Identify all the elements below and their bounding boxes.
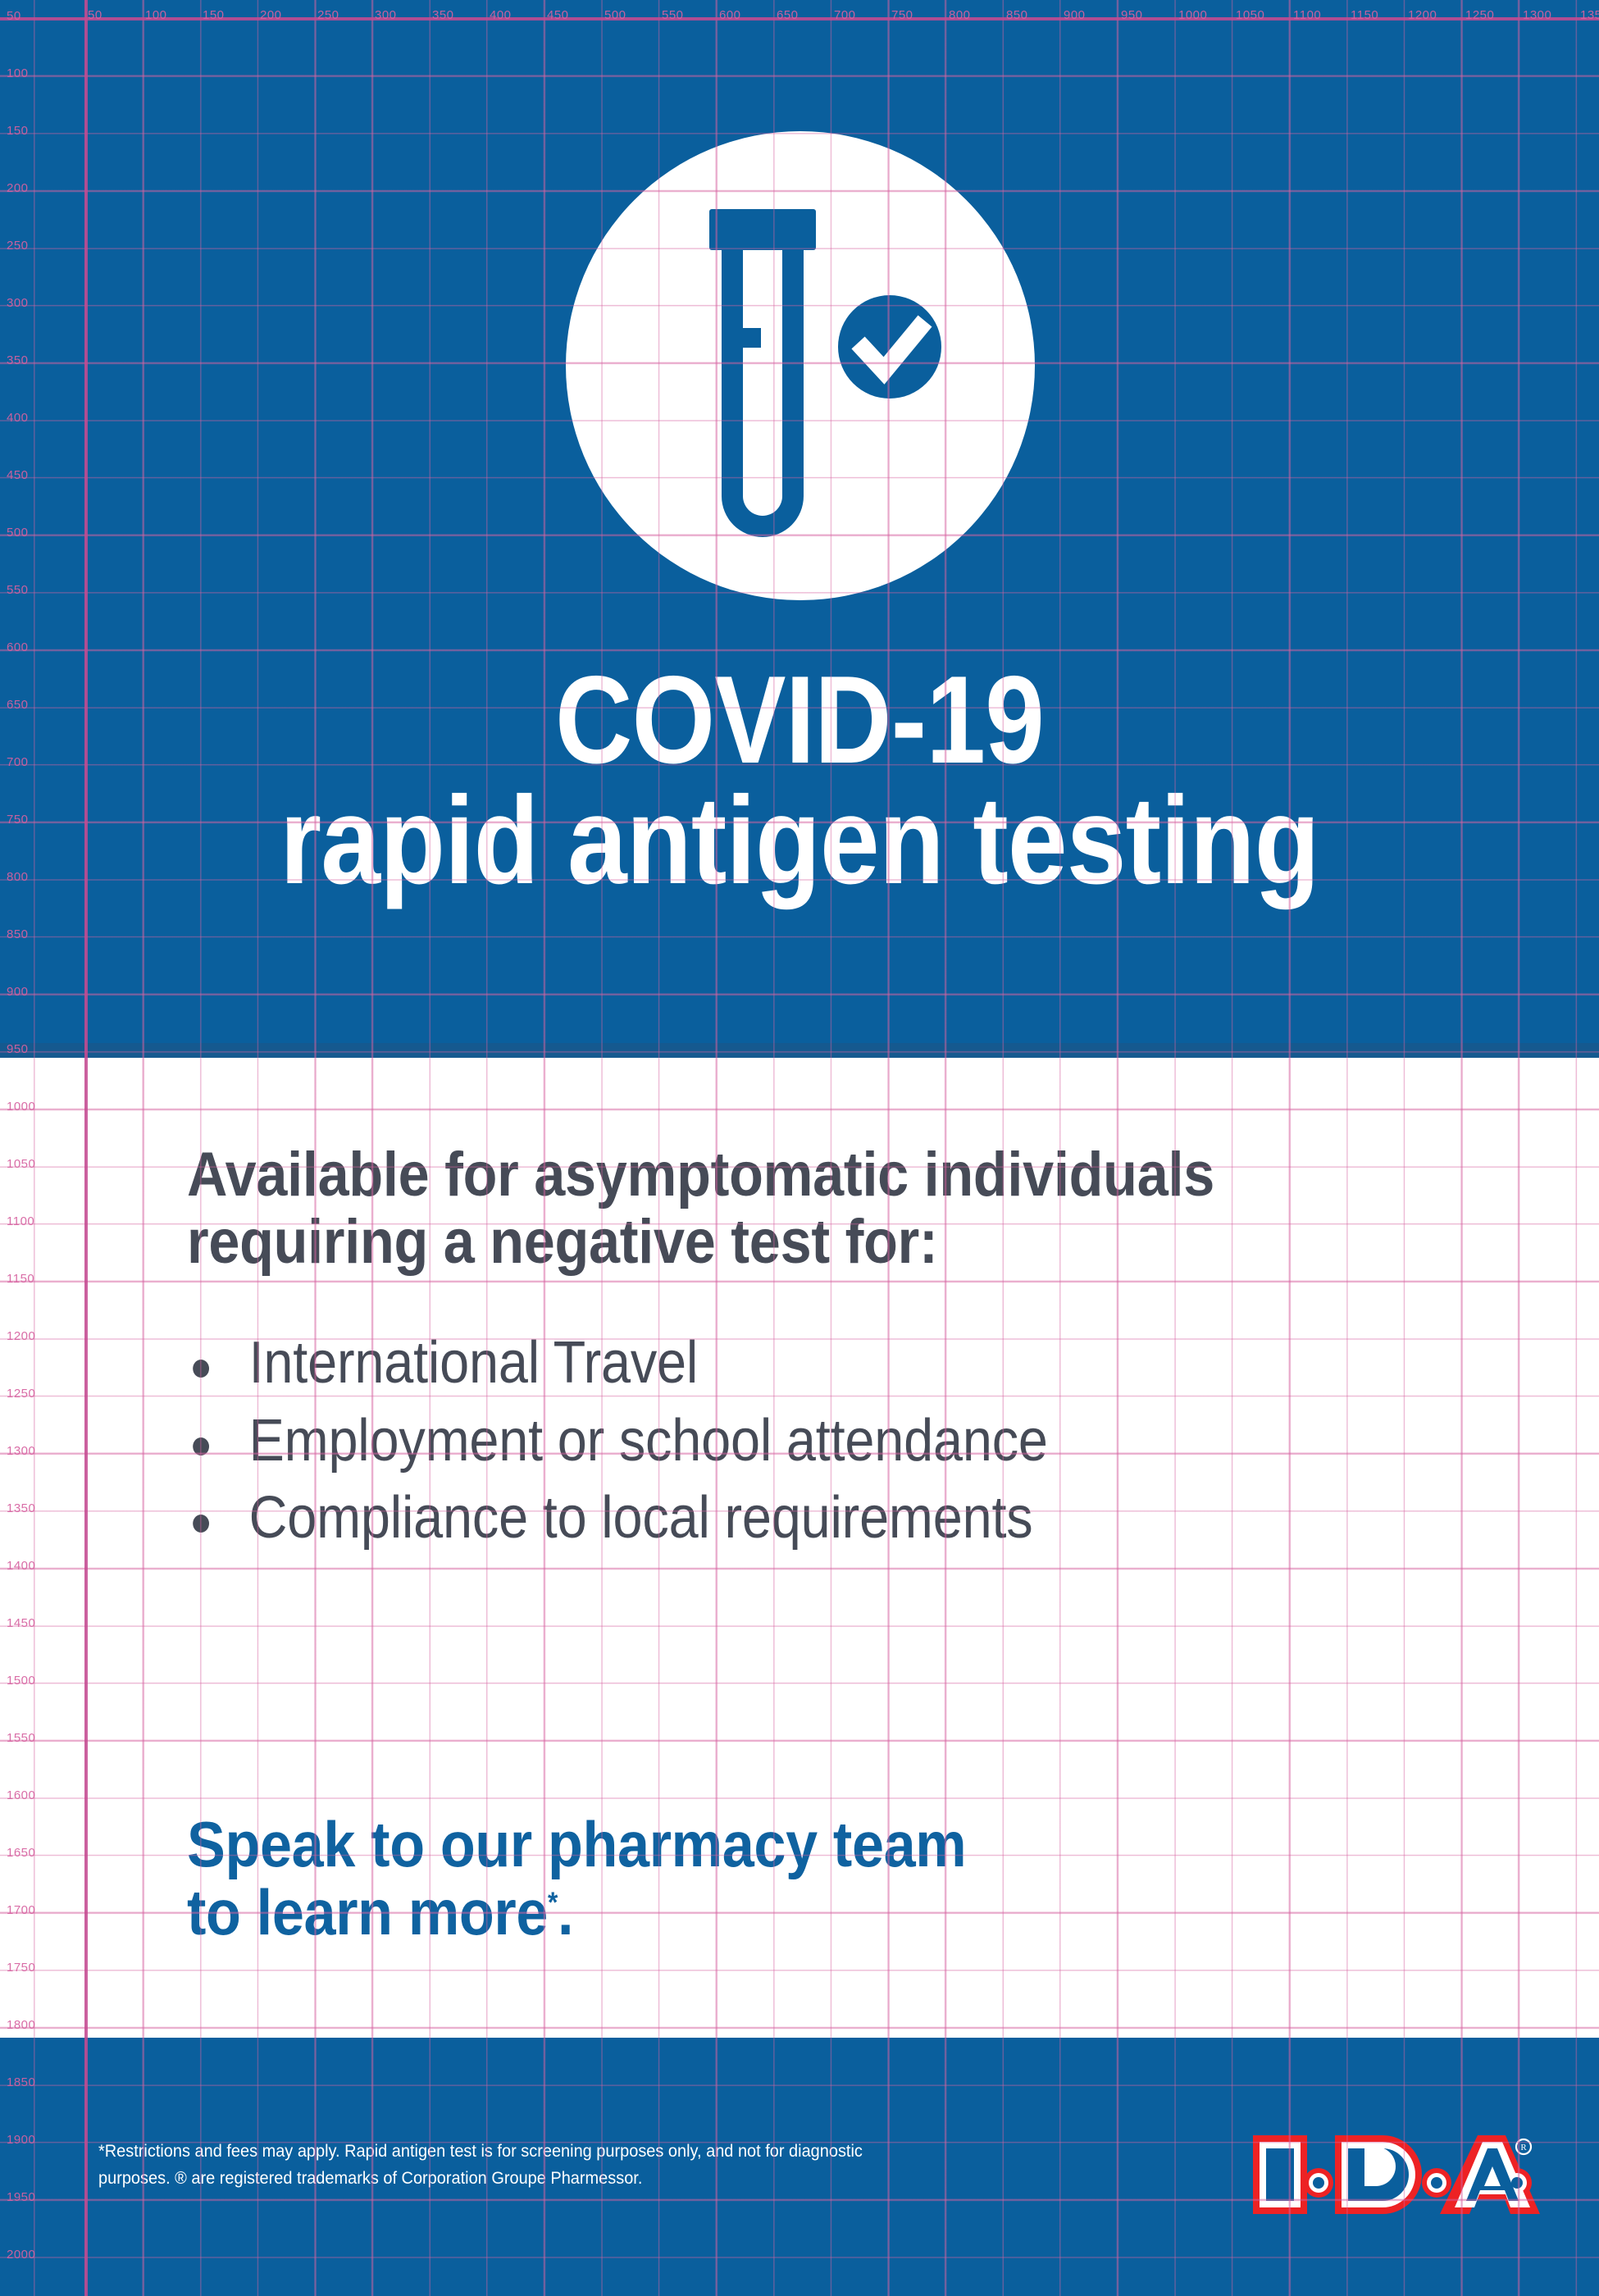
grid-ruler-label-x: 1000 xyxy=(1178,8,1207,22)
grid-ruler-label-y: 1500 xyxy=(7,1674,35,1688)
disclaimer-line-2: purposes. ® are registered trademarks of… xyxy=(98,2166,886,2193)
grid-ruler-label-x: 350 xyxy=(432,8,454,22)
grid-ruler-label-x: 450 xyxy=(547,8,569,22)
headline-line-1: COVID-19 xyxy=(555,650,1044,790)
cta-line-2: to learn more*. xyxy=(187,1879,966,1947)
grid-ruler-label-x: 600 xyxy=(719,8,741,22)
header-bottom-edge-strip xyxy=(0,1043,1599,1058)
subheading-line-1: Available for asymptomatic individuals xyxy=(187,1141,1338,1209)
grid-ruler-label-y: 200 xyxy=(7,181,29,195)
grid-ruler-label-x: 750 xyxy=(891,8,913,22)
grid-ruler-label-x: 1100 xyxy=(1293,8,1321,22)
grid-ruler-label-y: 1800 xyxy=(7,2018,35,2032)
grid-ruler-label-x: 150 xyxy=(203,8,225,22)
grid-ruler-label-y: 150 xyxy=(7,124,29,138)
grid-ruler-label-x: 900 xyxy=(1064,8,1086,22)
grid-ruler-label-x: 700 xyxy=(834,8,856,22)
cta-asterisk: * xyxy=(548,1887,558,1919)
bullet-dot-icon xyxy=(193,1515,209,1533)
list-item: Compliance to local requirements xyxy=(187,1485,1338,1551)
list-item-label: International Travel xyxy=(249,1330,699,1396)
eligibility-list: International Travel Employment or schoo… xyxy=(187,1330,1466,1551)
grid-ruler-label-y: 600 xyxy=(7,640,29,654)
grid-ruler-label-y: 1250 xyxy=(7,1387,35,1401)
grid-ruler-label-x: 250 xyxy=(317,8,339,22)
grid-ruler-label-y: 50 xyxy=(7,9,21,23)
poster-canvas: COVID-19 rapid antigen testing Available… xyxy=(0,0,1599,2296)
grid-ruler-label-y: 1600 xyxy=(7,1788,35,1802)
grid-ruler-label-y: 700 xyxy=(7,755,29,769)
grid-ruler-label-y: 2000 xyxy=(7,2248,35,2262)
grid-ruler-label-y: 800 xyxy=(7,870,29,884)
grid-ruler-label-x: 100 xyxy=(145,8,167,22)
grid-ruler-label-x: 1200 xyxy=(1408,8,1437,22)
grid-ruler-label-y: 950 xyxy=(7,1042,29,1056)
grid-ruler-label-y: 100 xyxy=(7,66,29,80)
grid-ruler-label-y: 1000 xyxy=(7,1100,35,1114)
grid-ruler-label-x: 1350 xyxy=(1580,8,1599,22)
body-copy: Available for asymptomatic individuals r… xyxy=(187,1141,1466,1563)
grid-ruler-label-y: 850 xyxy=(7,927,29,941)
grid-ruler-label-y: 1950 xyxy=(7,2190,35,2204)
subheading-line-2: requiring a negative test for: xyxy=(187,1209,1338,1276)
ida-logo: R xyxy=(1246,2124,1542,2225)
grid-ruler-label-y: 1700 xyxy=(7,1903,35,1917)
grid-ruler-label-y: 750 xyxy=(7,813,29,827)
grid-ruler-label-y: 400 xyxy=(7,411,29,425)
grid-ruler-label-y: 300 xyxy=(7,296,29,310)
grid-ruler-label-x: 50 xyxy=(88,8,102,22)
bullet-dot-icon xyxy=(193,1437,209,1455)
grid-ruler-label-y: 1850 xyxy=(7,2075,35,2089)
grid-ruler-label-y: 1200 xyxy=(7,1329,35,1343)
grid-ruler-label-x: 300 xyxy=(375,8,397,22)
grid-ruler-label-x: 1250 xyxy=(1465,8,1494,22)
registered-trademark-icon: R xyxy=(1516,2139,1531,2154)
disclaimer-line-1: *Restrictions and fees may apply. Rapid … xyxy=(98,2139,886,2166)
list-item-label: Employment or school attendance xyxy=(249,1408,1048,1474)
cta-line-1: Speak to our pharmacy team xyxy=(187,1811,966,1879)
call-to-action: Speak to our pharmacy team to learn more… xyxy=(187,1811,966,1947)
grid-ruler-label-y: 1150 xyxy=(7,1272,34,1286)
grid-ruler-label-y: 650 xyxy=(7,698,29,712)
grid-ruler-label-x: 650 xyxy=(777,8,799,22)
grid-ruler-label-y: 1050 xyxy=(7,1157,35,1171)
grid-ruler-label-x: 1150 xyxy=(1351,8,1378,22)
grid-ruler-label-y: 1400 xyxy=(7,1559,35,1573)
grid-ruler-label-x: 950 xyxy=(1121,8,1143,22)
grid-ruler-label-x: 550 xyxy=(662,8,684,22)
grid-ruler-label-y: 1550 xyxy=(7,1731,35,1745)
grid-ruler-label-y: 250 xyxy=(7,239,29,253)
grid-ruler-label-x: 800 xyxy=(949,8,971,22)
grid-ruler-label-y: 1350 xyxy=(7,1501,35,1515)
poster-headline: COVID-19 rapid antigen testing xyxy=(112,660,1487,902)
headline-line-2: rapid antigen testing xyxy=(112,781,1487,901)
grid-ruler-label-y: 500 xyxy=(7,526,29,540)
grid-ruler-label-y: 1900 xyxy=(7,2133,35,2147)
grid-ruler-label-y: 1450 xyxy=(7,1616,35,1630)
grid-ruler-label-x: 1050 xyxy=(1236,8,1264,22)
grid-ruler-label-x: 1300 xyxy=(1523,8,1551,22)
grid-ruler-label-x: 850 xyxy=(1006,8,1028,22)
grid-ruler-label-y: 1100 xyxy=(7,1214,34,1228)
list-item: International Travel xyxy=(187,1330,1338,1396)
grid-ruler-label-y: 350 xyxy=(7,353,29,367)
grid-ruler-label-y: 1650 xyxy=(7,1846,35,1860)
cta-period: . xyxy=(558,1876,573,1948)
list-item-label: Compliance to local requirements xyxy=(249,1485,1033,1551)
bullet-dot-icon xyxy=(193,1360,209,1378)
grid-ruler-label-y: 900 xyxy=(7,985,29,999)
svg-text:R: R xyxy=(1520,2143,1527,2152)
grid-ruler-label-x: 500 xyxy=(604,8,626,22)
grid-ruler-label-y: 1300 xyxy=(7,1444,35,1458)
footer-disclaimer: *Restrictions and fees may apply. Rapid … xyxy=(98,2139,886,2192)
grid-ruler-label-x: 200 xyxy=(260,8,282,22)
test-tube-check-icon xyxy=(566,131,1035,600)
cta-line-2-text: to learn more xyxy=(187,1876,548,1948)
grid-ruler-label-y: 550 xyxy=(7,583,29,597)
list-item: Employment or school attendance xyxy=(187,1408,1338,1474)
grid-ruler-label-x: 400 xyxy=(490,8,512,22)
subheading: Available for asymptomatic individuals r… xyxy=(187,1141,1338,1276)
grid-ruler-label-y: 1750 xyxy=(7,1961,35,1975)
grid-ruler-label-y: 450 xyxy=(7,468,29,482)
